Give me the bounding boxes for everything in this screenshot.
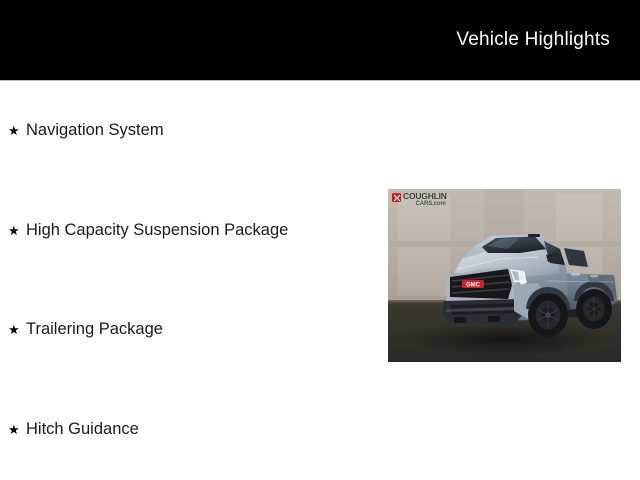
- highlight-label: Trailering Package: [26, 320, 163, 340]
- svg-text:GMC: GMC: [466, 283, 481, 289]
- list-item: ★ Hitch Guidance: [8, 420, 139, 440]
- list-item: ★ Trailering Package: [8, 320, 163, 340]
- page-title: Vehicle Highlights: [456, 29, 640, 51]
- highlight-label: Hitch Guidance: [26, 420, 139, 440]
- star-bullet-icon: ★: [8, 124, 26, 137]
- header-bar: Vehicle Highlights: [0, 0, 640, 80]
- highlight-label: Navigation System: [26, 121, 164, 141]
- star-bullet-icon: ★: [8, 323, 26, 336]
- star-bullet-icon: ★: [8, 423, 26, 436]
- vehicle-photo: GMC: [388, 189, 621, 362]
- star-bullet-icon: ★: [8, 224, 26, 237]
- list-item: ★ Navigation System: [8, 121, 164, 141]
- list-item: ★ High Capacity Suspension Package: [8, 221, 288, 241]
- highlight-label: High Capacity Suspension Package: [26, 221, 288, 241]
- vehicle-highlights-list: ★ Navigation System ★ High Capacity Susp…: [0, 81, 380, 480]
- vehicle-photo-illustration: GMC: [388, 189, 621, 362]
